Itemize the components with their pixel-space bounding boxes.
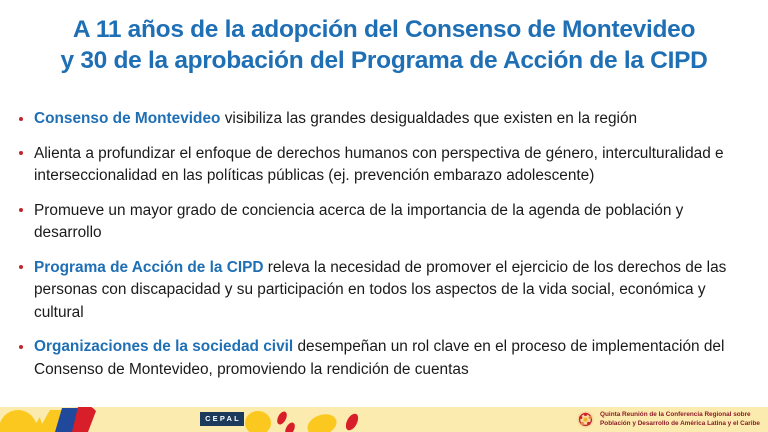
slide-title-line-1: A 11 años de la adopción del Consenso de… — [0, 14, 768, 45]
bullet-text: visibiliza las grandes desigualdades que… — [220, 110, 637, 127]
bullet-marker-icon — [19, 265, 23, 269]
list-item: Alienta a profundizar el enfoque de dere… — [14, 143, 754, 188]
slide-title: A 11 años de la adopción del Consenso de… — [0, 14, 768, 76]
bullet-lead-in: Organizaciones de la sociedad civil — [34, 338, 293, 355]
bullet-text: Promueve un mayor grado de conciencia ac… — [34, 202, 683, 242]
bullet-lead-in: Consenso de Montevideo — [34, 110, 220, 127]
conference-title: Quinta Reunión de la Conferencia Regiona… — [600, 411, 760, 428]
slide-title-line-2: y 30 de la aprobación del Programa de Ac… — [0, 45, 768, 76]
conference-emblem-icon — [576, 410, 595, 429]
list-item: Consenso de Montevideo visibiliza las gr… — [14, 108, 754, 131]
list-item: Promueve un mayor grado de conciencia ac… — [14, 200, 754, 245]
conference-title-line-1: Quinta Reunión de la Conferencia Regiona… — [600, 411, 760, 419]
bullet-marker-icon — [19, 345, 23, 349]
list-item: Programa de Acción de la CIPD releva la … — [14, 257, 754, 325]
bullet-marker-icon — [19, 208, 23, 212]
presentation-slide: A 11 años de la adopción del Consenso de… — [0, 0, 768, 432]
list-item: Organizaciones de la sociedad civil dese… — [14, 336, 754, 381]
cepal-logo: CEPAL — [200, 412, 244, 426]
bullet-marker-icon — [19, 151, 23, 155]
slide-footer: CEPAL Quinta Reunión de la Conferencia R… — [0, 407, 768, 432]
conference-branding: Quinta Reunión de la Conferencia Regiona… — [576, 410, 760, 429]
bullet-marker-icon — [19, 117, 23, 121]
bullet-list: Consenso de Montevideo visibiliza las gr… — [14, 108, 754, 381]
bullet-text: Alienta a profundizar el enfoque de dere… — [34, 145, 724, 185]
bullet-lead-in: Programa de Acción de la CIPD — [34, 259, 264, 276]
conference-title-line-2: Población y Desarrollo de América Latina… — [600, 420, 760, 428]
